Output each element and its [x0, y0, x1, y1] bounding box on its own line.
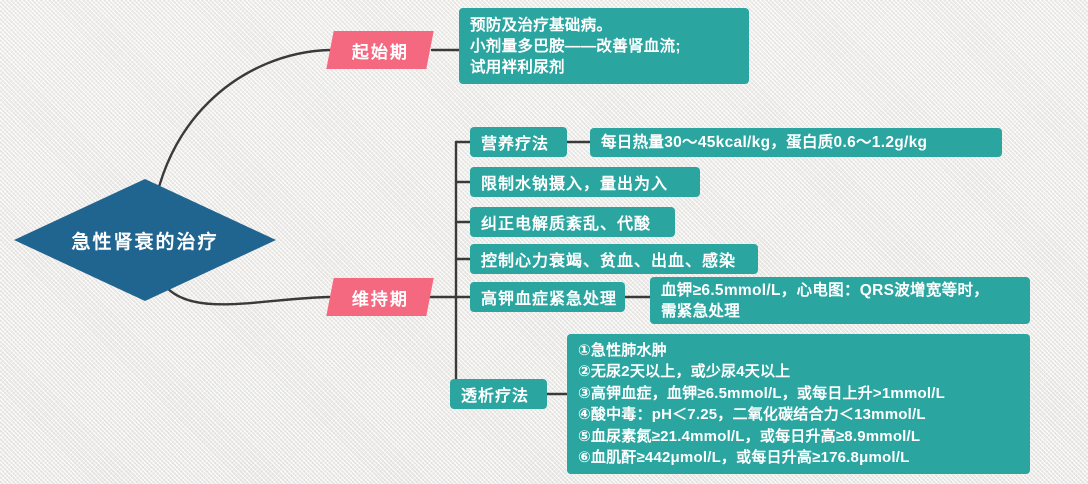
leaf-nutrition-therapy-detail-line-1: 每日热量30～45kcal/kg，蛋白质0.6～1.2g/kg [601, 132, 991, 153]
leaf-initial-measures-line-2: 小剂量多巴胺——改善肾血流; [470, 36, 738, 57]
leaf-hyperkalemia-emergency[interactable]: 高钾血症紧急处理 [470, 282, 625, 312]
leaf-fluid-sodium-restriction[interactable]: 限制水钠摄入，量出为入 [470, 167, 700, 197]
branch-node-initial-phase[interactable]: 起始期 [326, 31, 433, 69]
leaf-dialysis-therapy-detail-line-3: ③高钾血症，血钾≥6.5mmol/L，或每日上升>1mmol/L [578, 383, 1019, 405]
leaf-hyperkalemia-emergency-detail[interactable]: 血钾≥6.5mmol/L，心电图：QRS波增宽等时， 需紧急处理 [650, 277, 1030, 324]
leaf-dialysis-therapy-label: 透析疗法 [461, 382, 536, 406]
center-node[interactable]: 急性肾衰的治疗 [14, 179, 276, 301]
leaf-complication-control[interactable]: 控制心力衰竭、贫血、出血、感染 [470, 244, 758, 274]
leaf-nutrition-therapy-label: 营养疗法 [481, 130, 556, 154]
leaf-electrolyte-correction[interactable]: 纠正电解质紊乱、代酸 [470, 207, 675, 237]
leaf-dialysis-therapy-detail-line-2: ②无尿2天以上，或少尿4天以上 [578, 361, 1019, 383]
leaf-nutrition-therapy[interactable]: 营养疗法 [470, 127, 567, 157]
branch-node-maintenance-phase-label: 维持期 [352, 285, 409, 310]
leaf-dialysis-therapy-detail-line-5: ⑤血尿素氮≥21.4mmol/L，或每日升高≥8.9mmol/L [578, 426, 1019, 448]
leaf-complication-control-label: 控制心力衰竭、贫血、出血、感染 [481, 247, 747, 271]
mindmap-canvas: 急性肾衰的治疗 起始期 预防及治疗基础病。 小剂量多巴胺——改善肾血流; 试用袢… [0, 0, 1088, 484]
leaf-initial-measures-line-3: 试用袢利尿剂 [470, 57, 738, 78]
branch-node-maintenance-phase[interactable]: 维持期 [326, 278, 433, 316]
leaf-fluid-sodium-restriction-label: 限制水钠摄入，量出为入 [481, 170, 689, 194]
branch-node-initial-phase-label: 起始期 [352, 38, 409, 63]
leaf-hyperkalemia-emergency-label: 高钾血症紧急处理 [481, 285, 614, 309]
leaf-dialysis-therapy-detail[interactable]: ①急性肺水肿 ②无尿2天以上，或少尿4天以上 ③高钾血症，血钾≥6.5mmol/… [567, 334, 1030, 474]
leaf-hyperkalemia-emergency-detail-line-2: 需紧急处理 [661, 301, 1019, 322]
center-node-label: 急性肾衰的治疗 [14, 179, 276, 301]
leaf-dialysis-therapy-detail-line-6: ⑥血肌酐≥442μmol/L，或每日升高≥176.8μmol/L [578, 447, 1019, 469]
leaf-dialysis-therapy[interactable]: 透析疗法 [450, 379, 547, 409]
leaf-dialysis-therapy-detail-line-1: ①急性肺水肿 [578, 340, 1019, 362]
leaf-nutrition-therapy-detail[interactable]: 每日热量30～45kcal/kg，蛋白质0.6～1.2g/kg [590, 128, 1002, 157]
leaf-initial-measures-line-1: 预防及治疗基础病。 [470, 15, 738, 36]
leaf-electrolyte-correction-label: 纠正电解质紊乱、代酸 [481, 210, 664, 234]
leaf-dialysis-therapy-detail-line-4: ④酸中毒：pH＜7.25，二氧化碳结合力＜13mmol/L [578, 404, 1019, 426]
leaf-initial-measures[interactable]: 预防及治疗基础病。 小剂量多巴胺——改善肾血流; 试用袢利尿剂 [459, 8, 749, 84]
leaf-hyperkalemia-emergency-detail-line-1: 血钾≥6.5mmol/L，心电图：QRS波增宽等时， [661, 280, 1019, 301]
